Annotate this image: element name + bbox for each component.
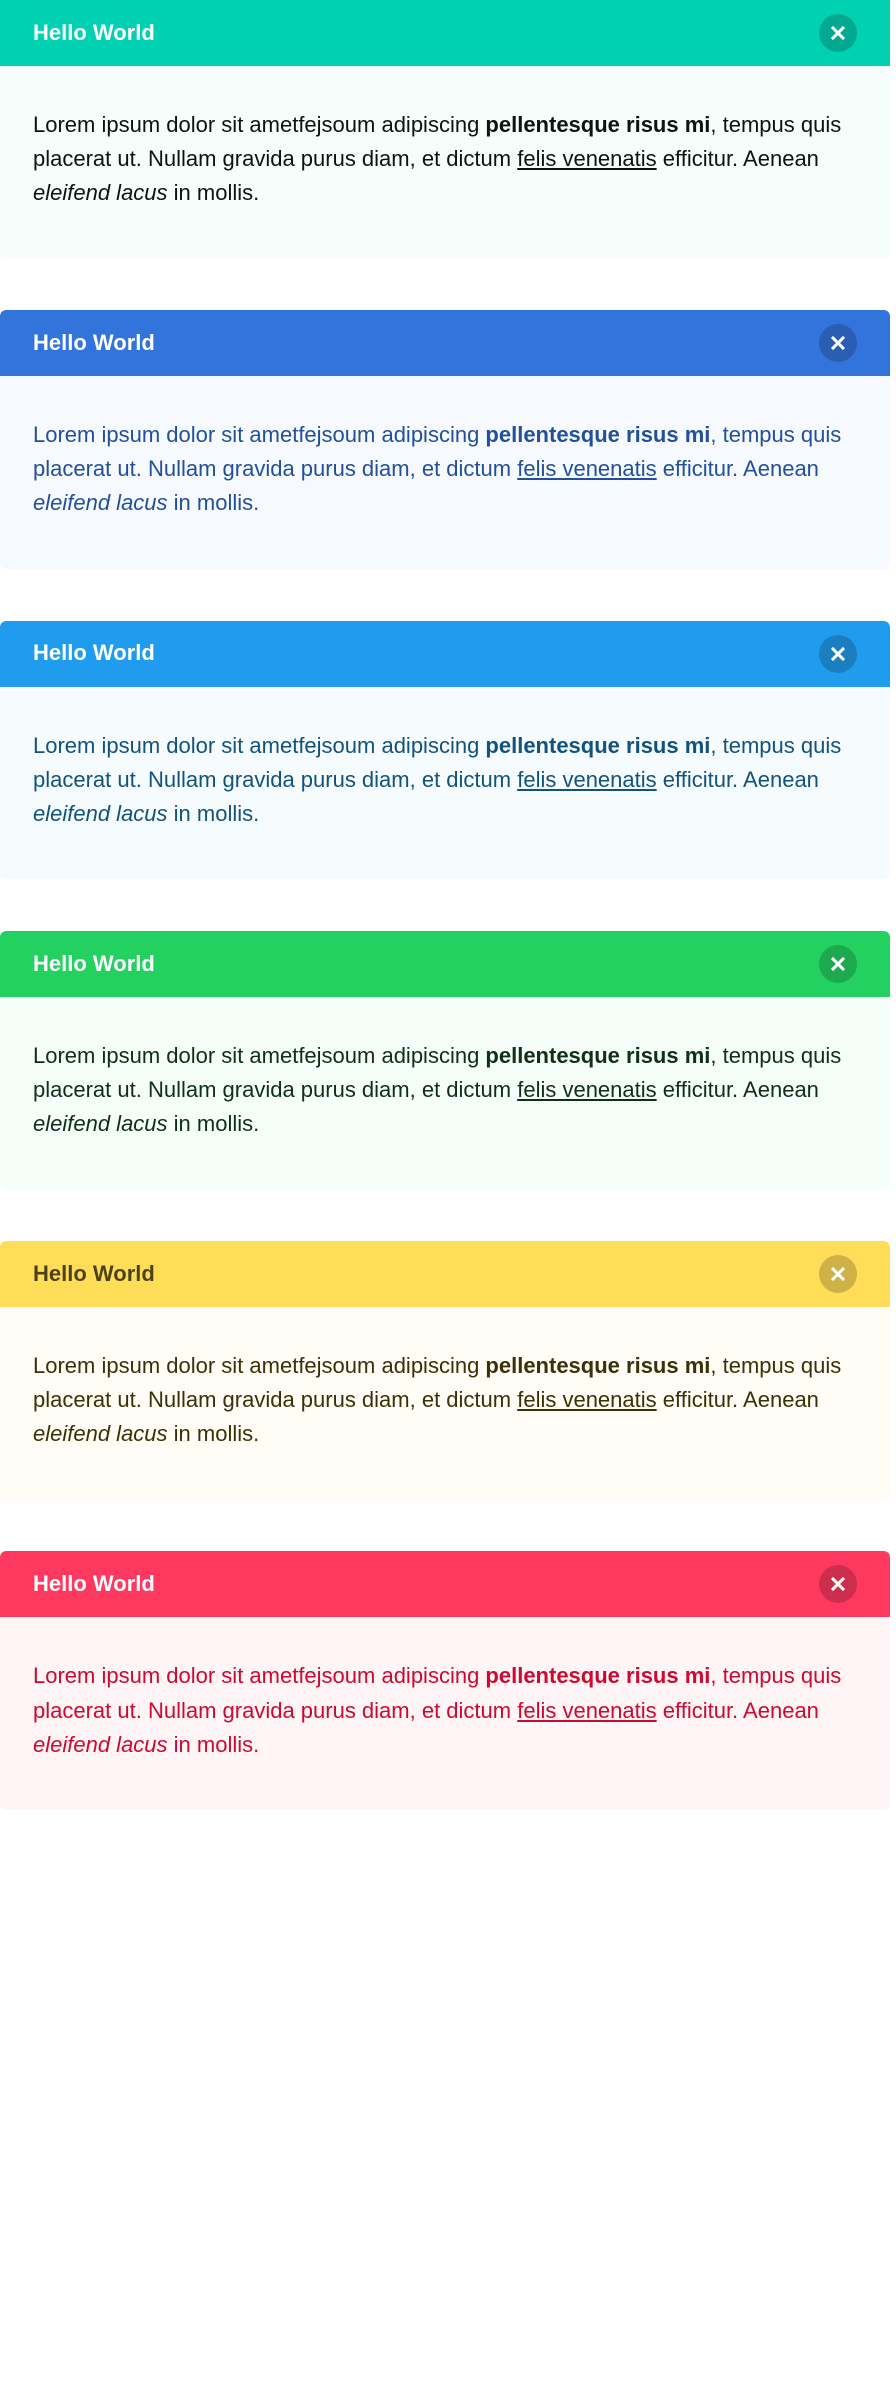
message-body-paragraph: Lorem ipsum dolor sit ametfejsoum adipis… xyxy=(33,108,857,210)
inline-link[interactable]: felis venenatis xyxy=(517,1387,656,1412)
emphasis-italic-text: eleifend lacus xyxy=(33,801,168,826)
emphasis-italic-text: eleifend lacus xyxy=(33,1421,168,1446)
emphasis-bold-text: pellentesque risus mi xyxy=(485,422,710,447)
message-body-primary: Lorem ipsum dolor sit ametfejsoum adipis… xyxy=(0,66,890,258)
message-body-paragraph: Lorem ipsum dolor sit ametfejsoum adipis… xyxy=(33,1039,857,1141)
message-title: Hello World xyxy=(33,329,155,358)
card-separator xyxy=(0,879,896,931)
emphasis-bold-text: pellentesque risus mi xyxy=(485,1663,710,1688)
message-body-link: Lorem ipsum dolor sit ametfejsoum adipis… xyxy=(0,376,890,568)
close-icon[interactable] xyxy=(819,1565,857,1603)
close-icon[interactable] xyxy=(819,324,857,362)
message-body-paragraph: Lorem ipsum dolor sit ametfejsoum adipis… xyxy=(33,1659,857,1761)
message-title: Hello World xyxy=(33,950,155,979)
message-card-link: Hello WorldLorem ipsum dolor sit ametfej… xyxy=(0,310,890,568)
message-title: Hello World xyxy=(33,639,155,668)
message-body-info: Lorem ipsum dolor sit ametfejsoum adipis… xyxy=(0,687,890,879)
emphasis-bold-text: pellentesque risus mi xyxy=(485,112,710,137)
emphasis-bold-text: pellentesque risus mi xyxy=(485,1353,710,1378)
emphasis-italic-text: eleifend lacus xyxy=(33,1111,168,1136)
message-header-primary: Hello World xyxy=(0,0,890,66)
message-card-stack: Hello WorldLorem ipsum dolor sit ametfej… xyxy=(0,0,896,1810)
message-header-warning: Hello World xyxy=(0,1241,890,1307)
message-body-warning: Lorem ipsum dolor sit ametfejsoum adipis… xyxy=(0,1307,890,1499)
close-icon[interactable] xyxy=(819,635,857,673)
message-card-warning: Hello WorldLorem ipsum dolor sit ametfej… xyxy=(0,1241,890,1499)
card-separator xyxy=(0,258,896,310)
card-separator xyxy=(0,569,896,621)
close-icon[interactable] xyxy=(819,1255,857,1293)
close-icon[interactable] xyxy=(819,14,857,52)
message-card-danger: Hello WorldLorem ipsum dolor sit ametfej… xyxy=(0,1551,890,1809)
close-icon[interactable] xyxy=(819,945,857,983)
message-header-link: Hello World xyxy=(0,310,890,376)
card-separator xyxy=(0,1189,896,1241)
inline-link[interactable]: felis venenatis xyxy=(517,146,656,171)
message-body-paragraph: Lorem ipsum dolor sit ametfejsoum adipis… xyxy=(33,1349,857,1451)
message-header-info: Hello World xyxy=(0,621,890,687)
message-title: Hello World xyxy=(33,1260,155,1289)
message-body-danger: Lorem ipsum dolor sit ametfejsoum adipis… xyxy=(0,1617,890,1809)
message-header-danger: Hello World xyxy=(0,1551,890,1617)
emphasis-italic-text: eleifend lacus xyxy=(33,490,168,515)
inline-link[interactable]: felis venenatis xyxy=(517,767,656,792)
emphasis-bold-text: pellentesque risus mi xyxy=(485,733,710,758)
inline-link[interactable]: felis venenatis xyxy=(517,1077,656,1102)
card-separator xyxy=(0,1499,896,1551)
emphasis-italic-text: eleifend lacus xyxy=(33,1732,168,1757)
inline-link[interactable]: felis venenatis xyxy=(517,1698,656,1723)
message-card-success: Hello WorldLorem ipsum dolor sit ametfej… xyxy=(0,931,890,1189)
message-body-paragraph: Lorem ipsum dolor sit ametfejsoum adipis… xyxy=(33,418,857,520)
emphasis-italic-text: eleifend lacus xyxy=(33,180,168,205)
message-title: Hello World xyxy=(33,1570,155,1599)
inline-link[interactable]: felis venenatis xyxy=(517,456,656,481)
emphasis-bold-text: pellentesque risus mi xyxy=(485,1043,710,1068)
message-body-paragraph: Lorem ipsum dolor sit ametfejsoum adipis… xyxy=(33,729,857,831)
message-header-success: Hello World xyxy=(0,931,890,997)
message-card-primary: Hello WorldLorem ipsum dolor sit ametfej… xyxy=(0,0,890,258)
message-body-success: Lorem ipsum dolor sit ametfejsoum adipis… xyxy=(0,997,890,1189)
message-title: Hello World xyxy=(33,19,155,48)
message-card-info: Hello WorldLorem ipsum dolor sit ametfej… xyxy=(0,621,890,879)
